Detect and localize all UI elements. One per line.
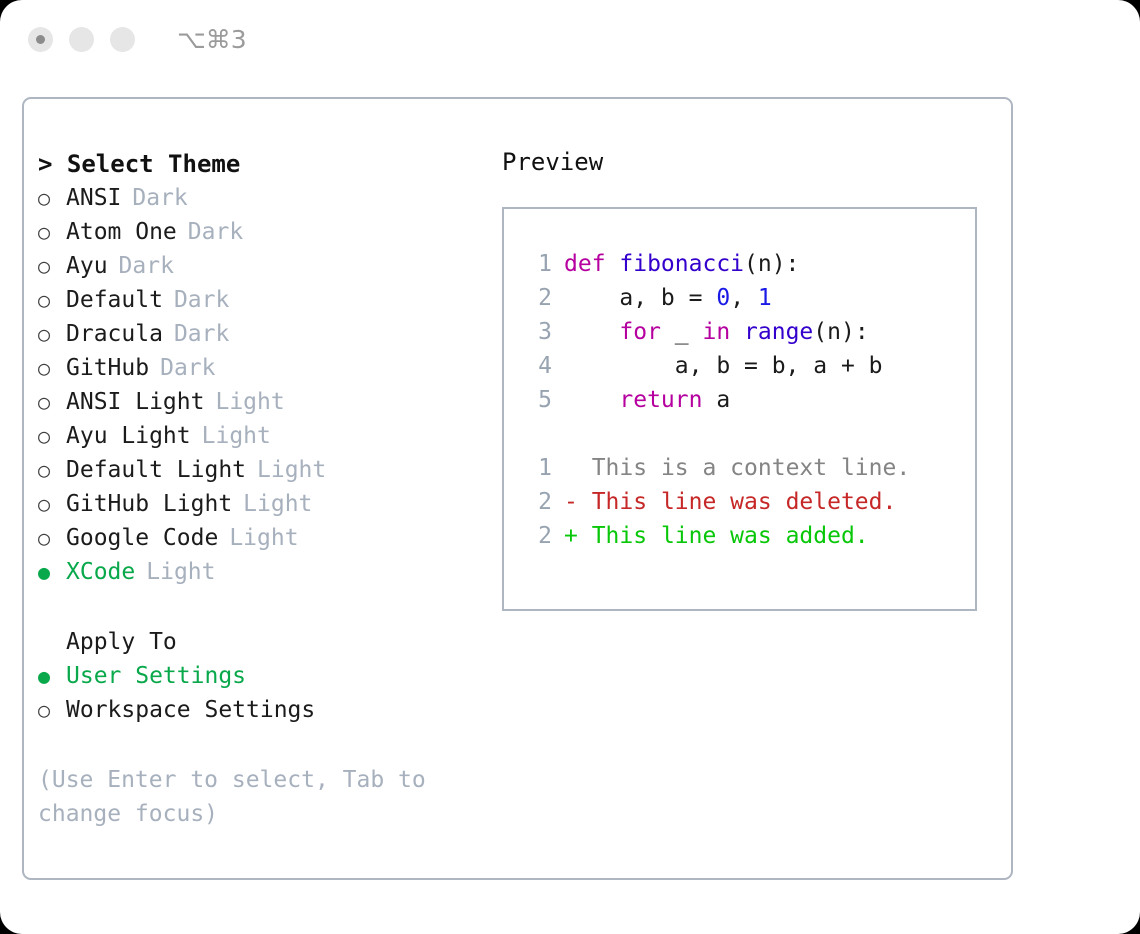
code-line-number: 4: [518, 349, 564, 383]
preview-column: Preview 1def fibonacci(n):2 a, b = 0, 13…: [502, 147, 1002, 611]
keyboard-shortcut-label: ⌥⌘3: [177, 27, 247, 52]
radio-selected-icon: ●: [38, 555, 66, 589]
diff-line-content: This is a context line.: [578, 451, 910, 485]
theme-option-kind: Dark: [121, 181, 187, 215]
theme-option-kind: Dark: [108, 249, 174, 283]
diff-line-number: 2: [518, 485, 564, 519]
radio-unselected-icon: ○: [38, 249, 66, 283]
theme-option-label: Ayu Light: [66, 419, 191, 453]
theme-option-xcode[interactable]: ●XCodeLight: [38, 555, 488, 589]
code-line-content: for _ in range(n):: [564, 315, 869, 349]
theme-option-github-light[interactable]: ○GitHub LightLight: [38, 487, 488, 521]
code-token-kw: for: [619, 319, 661, 345]
diff-marker: -: [564, 485, 578, 519]
code-token-plain: [564, 387, 619, 413]
diff-line: 2- This line was deleted.: [518, 485, 975, 519]
theme-option-dracula[interactable]: ○DraculaDark: [38, 317, 488, 351]
theme-option-label: Dracula: [66, 317, 163, 351]
code-token-plain: [564, 319, 619, 345]
apply-to-option-user-settings[interactable]: ●User Settings: [38, 659, 488, 693]
code-token-plain: a: [702, 387, 730, 413]
window-dot-third[interactable]: [110, 27, 135, 52]
theme-option-kind: Dark: [163, 283, 229, 317]
code-token-fn: range: [744, 319, 813, 345]
radio-unselected-icon: ○: [38, 693, 66, 727]
preview-box: 1def fibonacci(n):2 a, b = 0, 13 for _ i…: [502, 207, 977, 611]
code-line-content: def fibonacci(n):: [564, 247, 799, 281]
apply-to-option-label: Workspace Settings: [66, 693, 315, 727]
theme-option-kind: Dark: [177, 215, 243, 249]
keyboard-hint-text: (Use Enter to select, Tab to change focu…: [38, 763, 438, 831]
apply-to-option-label: User Settings: [66, 659, 246, 693]
diff-sample: 1 This is a context line.2- This line wa…: [518, 451, 975, 553]
select-theme-heading: > Select Theme: [38, 147, 488, 181]
diff-line: 2+ This line was added.: [518, 519, 975, 553]
diff-marker: [564, 451, 578, 485]
apply-to-group: Apply To ●User Settings○Workspace Settin…: [38, 625, 488, 727]
window-dot-active-indicator: [36, 35, 45, 44]
code-token-plain: a, b =: [564, 285, 716, 311]
diff-marker: +: [564, 519, 578, 553]
code-line: 4 a, b = b, a + b: [518, 349, 975, 383]
theme-option-label: Default Light: [66, 453, 246, 487]
code-token-plain: a, b = b, a + b: [564, 353, 883, 379]
code-line-number: 1: [518, 247, 564, 281]
apply-to-heading: Apply To: [38, 625, 488, 659]
code-token-fn: fibonacci: [619, 251, 744, 277]
window-dot-second[interactable]: [69, 27, 94, 52]
theme-option-ayu[interactable]: ○AyuDark: [38, 249, 488, 283]
code-line-number: 3: [518, 315, 564, 349]
radio-unselected-icon: ○: [38, 317, 66, 351]
theme-option-label: Google Code: [66, 521, 218, 555]
preview-title: Preview: [502, 147, 1002, 177]
radio-unselected-icon: ○: [38, 283, 66, 317]
radio-unselected-icon: ○: [38, 453, 66, 487]
theme-picker-panel: > Select Theme ○ANSIDark○Atom OneDark○Ay…: [22, 97, 1013, 880]
apply-to-option-workspace-settings[interactable]: ○Workspace Settings: [38, 693, 488, 727]
code-token-kw: def: [564, 251, 619, 277]
code-line-content: a, b = b, a + b: [564, 349, 883, 383]
theme-selection-column: > Select Theme ○ANSIDark○Atom OneDark○Ay…: [38, 147, 488, 831]
theme-option-kind: Light: [218, 521, 298, 555]
theme-option-kind: Light: [246, 453, 326, 487]
code-token-plain: ,: [730, 285, 758, 311]
diff-line-content: This line was added.: [578, 519, 869, 553]
theme-option-ansi[interactable]: ○ANSIDark: [38, 181, 488, 215]
radio-unselected-icon: ○: [38, 521, 66, 555]
code-token-num: 1: [758, 285, 772, 311]
diff-line-content: This line was deleted.: [578, 485, 897, 519]
theme-option-atom-one[interactable]: ○Atom OneDark: [38, 215, 488, 249]
theme-option-ansi-light[interactable]: ○ANSI LightLight: [38, 385, 488, 419]
radio-unselected-icon: ○: [38, 419, 66, 453]
diff-line-number: 1: [518, 451, 564, 485]
radio-unselected-icon: ○: [38, 215, 66, 249]
code-token-num: 0: [716, 285, 730, 311]
code-token-plain: (n):: [813, 319, 868, 345]
theme-option-github[interactable]: ○GitHubDark: [38, 351, 488, 385]
panel-body: > Select Theme ○ANSIDark○Atom OneDark○Ay…: [24, 99, 1011, 878]
theme-option-default[interactable]: ○DefaultDark: [38, 283, 488, 317]
window-titlebar: ⌥⌘3: [0, 0, 1140, 78]
theme-option-label: ANSI: [66, 181, 121, 215]
code-line-number: 2: [518, 281, 564, 315]
code-line: 2 a, b = 0, 1: [518, 281, 975, 315]
code-line-content: return a: [564, 383, 730, 417]
apply-to-list: ●User Settings○Workspace Settings: [38, 659, 488, 727]
theme-option-kind: Dark: [149, 351, 215, 385]
app-window: ⌥⌘3 > Select Theme ○ANSIDark○Atom OneDar…: [0, 0, 1140, 934]
code-sample: 1def fibonacci(n):2 a, b = 0, 13 for _ i…: [518, 247, 975, 417]
code-line: 3 for _ in range(n):: [518, 315, 975, 349]
code-line-number: 5: [518, 383, 564, 417]
theme-option-label: Atom One: [66, 215, 177, 249]
code-line-content: a, b = 0, 1: [564, 281, 772, 315]
diff-line-number: 2: [518, 519, 564, 553]
theme-option-label: GitHub: [66, 351, 149, 385]
theme-option-kind: Dark: [163, 317, 229, 351]
diff-line: 1 This is a context line.: [518, 451, 975, 485]
theme-option-kind: Light: [135, 555, 215, 589]
radio-unselected-icon: ○: [38, 181, 66, 215]
theme-option-kind: Light: [204, 385, 284, 419]
code-line: 1def fibonacci(n):: [518, 247, 975, 281]
theme-option-label: ANSI Light: [66, 385, 204, 419]
radio-unselected-icon: ○: [38, 487, 66, 521]
theme-option-label: Ayu: [66, 249, 108, 283]
theme-option-label: Default: [66, 283, 163, 317]
theme-option-label: XCode: [66, 555, 135, 589]
theme-option-label: GitHub Light: [66, 487, 232, 521]
code-token-kw: return: [619, 387, 702, 413]
code-token-plain: [730, 319, 744, 345]
code-token-plain: (n):: [744, 251, 799, 277]
theme-option-google-code[interactable]: ○Google CodeLight: [38, 521, 488, 555]
theme-option-ayu-light[interactable]: ○Ayu LightLight: [38, 419, 488, 453]
radio-unselected-icon: ○: [38, 385, 66, 419]
theme-list: ○ANSIDark○Atom OneDark○AyuDark○DefaultDa…: [38, 181, 488, 589]
theme-option-kind: Light: [191, 419, 271, 453]
code-line: 5 return a: [518, 383, 975, 417]
radio-selected-icon: ●: [38, 659, 66, 693]
theme-option-kind: Light: [232, 487, 312, 521]
theme-option-default-light[interactable]: ○Default LightLight: [38, 453, 488, 487]
window-dot-active[interactable]: [28, 27, 53, 52]
code-token-kw: in: [702, 319, 730, 345]
code-token-plain: _: [661, 319, 703, 345]
radio-unselected-icon: ○: [38, 351, 66, 385]
code-diff-spacer: [518, 417, 975, 451]
